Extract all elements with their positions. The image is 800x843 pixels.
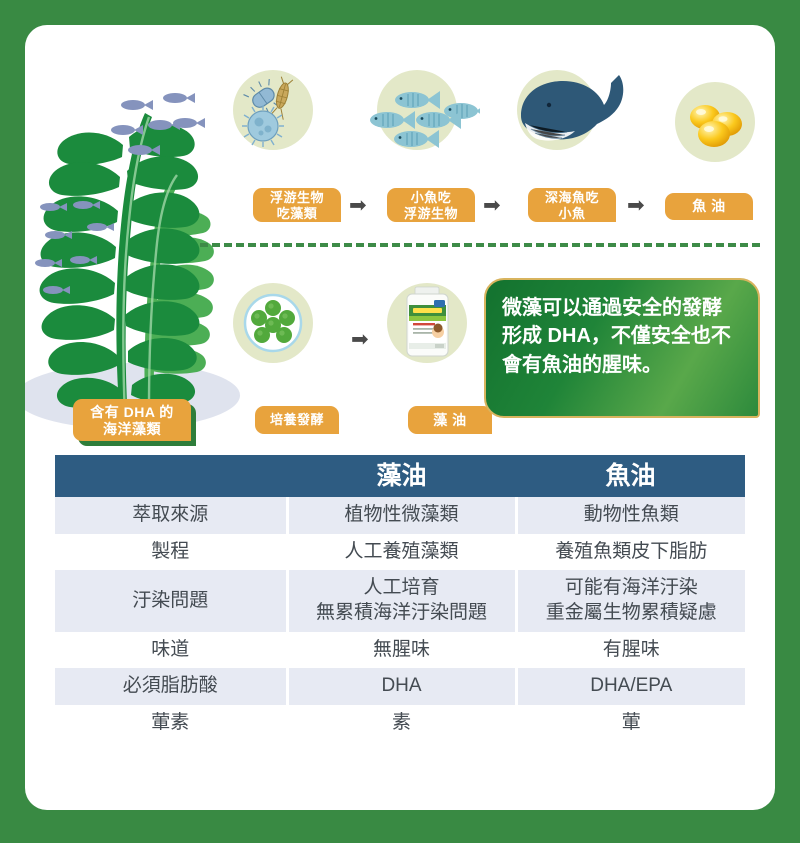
flow-label-line1: 浮游生物 <box>270 190 324 205</box>
flow-label-fish-oil: 魚 油 <box>665 193 753 220</box>
flow-label-deepsea-fish-eat-fish: 深海魚吃 小魚 <box>528 188 616 222</box>
table-header-blank <box>55 455 287 497</box>
fish-oil-capsule-icon <box>675 82 755 162</box>
flow-arrow-1-icon: ➡ <box>349 195 367 216</box>
row-algae-value: DHA <box>287 668 516 705</box>
row-fish-value-line2: 重金屬生物累積疑慮 <box>520 601 744 626</box>
row-label: 必須脂肪酸 <box>55 668 287 705</box>
row-label: 汙染問題 <box>55 570 287 631</box>
section-divider <box>200 243 760 247</box>
supplement-bottle-icon <box>387 281 469 367</box>
flow-label-plankton-eats-algae: 浮游生物 吃藻類 <box>253 188 341 222</box>
flow-label-fish-eat-plankton: 小魚吃 浮游生物 <box>387 188 475 222</box>
dha-seaweed-label-line2: 海洋藻類 <box>90 421 174 438</box>
algae-petri-dish-icon <box>233 283 313 363</box>
microalgae-dha-statement: 微藻可以通過安全的發酵 形成 DHA，不僅安全也不 會有魚油的腥味。 <box>484 278 760 418</box>
row-algae-value: 人工培育 無累積海洋汙染問題 <box>287 570 516 631</box>
table-row: 味道 無腥味 有腥味 <box>55 632 745 669</box>
table-header-fish-oil: 魚油 <box>516 455 745 497</box>
flow-label-line2: 小魚 <box>545 206 599 221</box>
row-label: 製程 <box>55 534 287 571</box>
flow-label-line1: 小魚吃 <box>404 190 458 205</box>
plankton-icon <box>233 70 313 150</box>
flow-label-culture-ferment: 培養發酵 <box>255 406 339 434</box>
row-label: 萃取來源 <box>55 497 287 534</box>
row-fish-value: 葷 <box>516 705 745 742</box>
row-fish-value: DHA/EPA <box>516 668 745 705</box>
table-row: 必須脂肪酸 DHA DHA/EPA <box>55 668 745 705</box>
table-row: 葷素 素 葷 <box>55 705 745 742</box>
row-fish-value: 有腥味 <box>516 632 745 669</box>
table-row: 萃取來源 植物性微藻類 動物性魚類 <box>55 497 745 534</box>
row-label: 味道 <box>55 632 287 669</box>
dha-seaweed-label: 含有 DHA 的 海洋藻類 <box>73 399 191 441</box>
statement-line-1: 微藻可以通過安全的發酵 <box>502 294 744 322</box>
table-header-row: 藻油 魚油 <box>55 455 745 497</box>
table-row: 製程 人工養殖藻類 養殖魚類皮下脂肪 <box>55 534 745 571</box>
flow-label-line1: 培養發酵 <box>270 412 324 427</box>
infographic-page: 含有 DHA 的 海洋藻類 <box>0 0 800 843</box>
row-algae-value: 無腥味 <box>287 632 516 669</box>
whale-icon <box>507 61 627 161</box>
flow-label-line2: 浮游生物 <box>404 206 458 221</box>
algae-oil-vs-fish-oil-table: 藻油 魚油 萃取來源 植物性微藻類 動物性魚類 製程 人工養殖藻類 養殖魚類皮下… <box>55 455 745 742</box>
table-row: 汙染問題 人工培育 無累積海洋汙染問題 可能有海洋汙染 重金屬生物累積疑慮 <box>55 570 745 631</box>
row-algae-value-line2: 無累積海洋汙染問題 <box>291 601 513 626</box>
row-fish-value: 養殖魚類皮下脂肪 <box>516 534 745 571</box>
row-fish-value: 可能有海洋汙染 重金屬生物累積疑慮 <box>516 570 745 631</box>
statement-line-2: 形成 DHA，不僅安全也不 <box>502 322 744 350</box>
flow-arrow-4-icon: ➡ <box>351 329 369 350</box>
flow-label-line1: 魚 油 <box>692 198 725 215</box>
small-fish-icon <box>365 67 480 155</box>
row-fish-value-line1: 可能有海洋汙染 <box>520 576 744 601</box>
flow-label-line1: 藻 油 <box>433 412 466 429</box>
flow-label-line2: 吃藻類 <box>270 206 324 221</box>
row-algae-value: 素 <box>287 705 516 742</box>
row-algae-value: 人工養殖藻類 <box>287 534 516 571</box>
row-label: 葷素 <box>55 705 287 742</box>
table-header-algae-oil: 藻油 <box>287 455 516 497</box>
flow-label-algae-oil: 藻 油 <box>408 406 492 434</box>
row-algae-value-line1: 人工培育 <box>291 576 513 601</box>
dha-seaweed-label-line1: 含有 DHA 的 <box>90 404 174 421</box>
flow-arrow-2-icon: ➡ <box>483 195 501 216</box>
statement-line-3: 會有魚油的腥味。 <box>502 351 744 379</box>
row-algae-value: 植物性微藻類 <box>287 497 516 534</box>
row-fish-value: 動物性魚類 <box>516 497 745 534</box>
flow-arrow-3-icon: ➡ <box>627 195 645 216</box>
flow-label-line1: 深海魚吃 <box>545 190 599 205</box>
white-content-panel: 含有 DHA 的 海洋藻類 <box>25 25 775 810</box>
